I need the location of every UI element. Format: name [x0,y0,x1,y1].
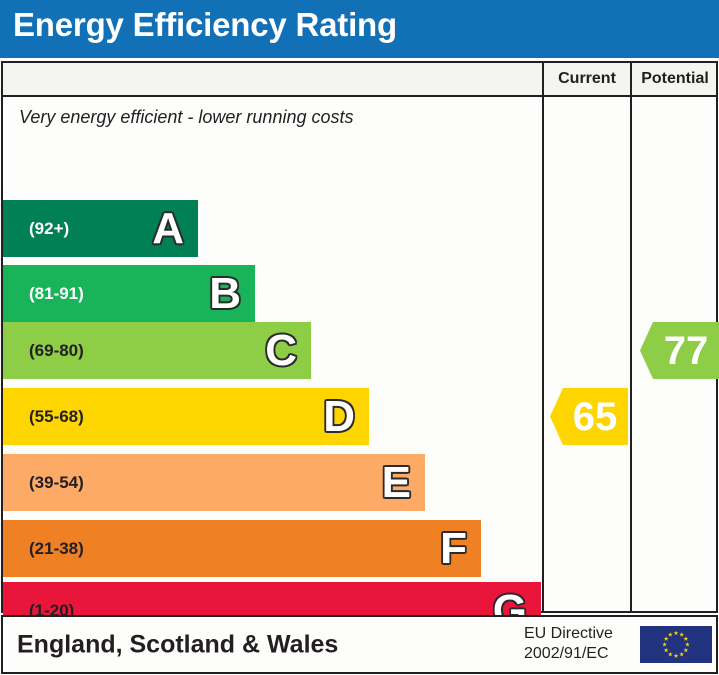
potential-rating-value: 77 [652,331,709,371]
eu-flag-icon [640,626,712,663]
column-separator-potential [630,63,632,611]
page-title: Energy Efficiency Rating [13,6,397,44]
column-header-current: Current [544,63,630,95]
band-range-e: (39-54) [29,473,84,493]
rating-band-f: (21-38) F [3,520,481,577]
band-range-d: (55-68) [29,407,84,427]
title-bar: Energy Efficiency Rating [0,0,719,58]
rating-band-a: (92+) A [3,200,198,257]
eu-directive-label: EU Directive 2002/91/EC [524,624,613,666]
band-letter-c: C [265,329,297,373]
footer-region-label: England, Scotland & Wales [17,630,338,659]
column-separator-current [542,63,544,611]
epc-certificate: Energy Efficiency Rating Current Potenti… [0,0,719,675]
band-letter-d: D [323,395,355,439]
band-letter-b: B [209,272,241,316]
band-letter-e: E [382,461,411,505]
footer-bar: England, Scotland & Wales EU Directive 2… [1,615,718,674]
rating-band-d: (55-68) D [3,388,369,445]
eu-directive-line1: EU Directive [524,624,613,645]
rating-band-e: (39-54) E [3,454,425,511]
eu-directive-line2: 2002/91/EC [524,645,613,666]
band-range-c: (69-80) [29,341,84,361]
caption-top: Very energy efficient - lower running co… [19,107,354,128]
band-letter-a: A [152,207,184,251]
current-rating-value: 65 [561,397,618,437]
rating-band-c: (69-80) C [3,322,311,379]
band-range-b: (81-91) [29,284,84,304]
rating-band-b: (81-91) B [3,265,255,322]
band-range-f: (21-38) [29,539,84,559]
potential-rating-marker: 77 [640,322,719,379]
column-header-potential: Potential [632,63,718,95]
column-header-row: Current Potential [3,63,716,97]
band-range-a: (92+) [29,219,69,239]
band-letter-f: F [440,527,467,571]
current-rating-marker: 65 [550,388,628,445]
rating-chart-frame: Current Potential Very energy efficient … [1,61,718,613]
